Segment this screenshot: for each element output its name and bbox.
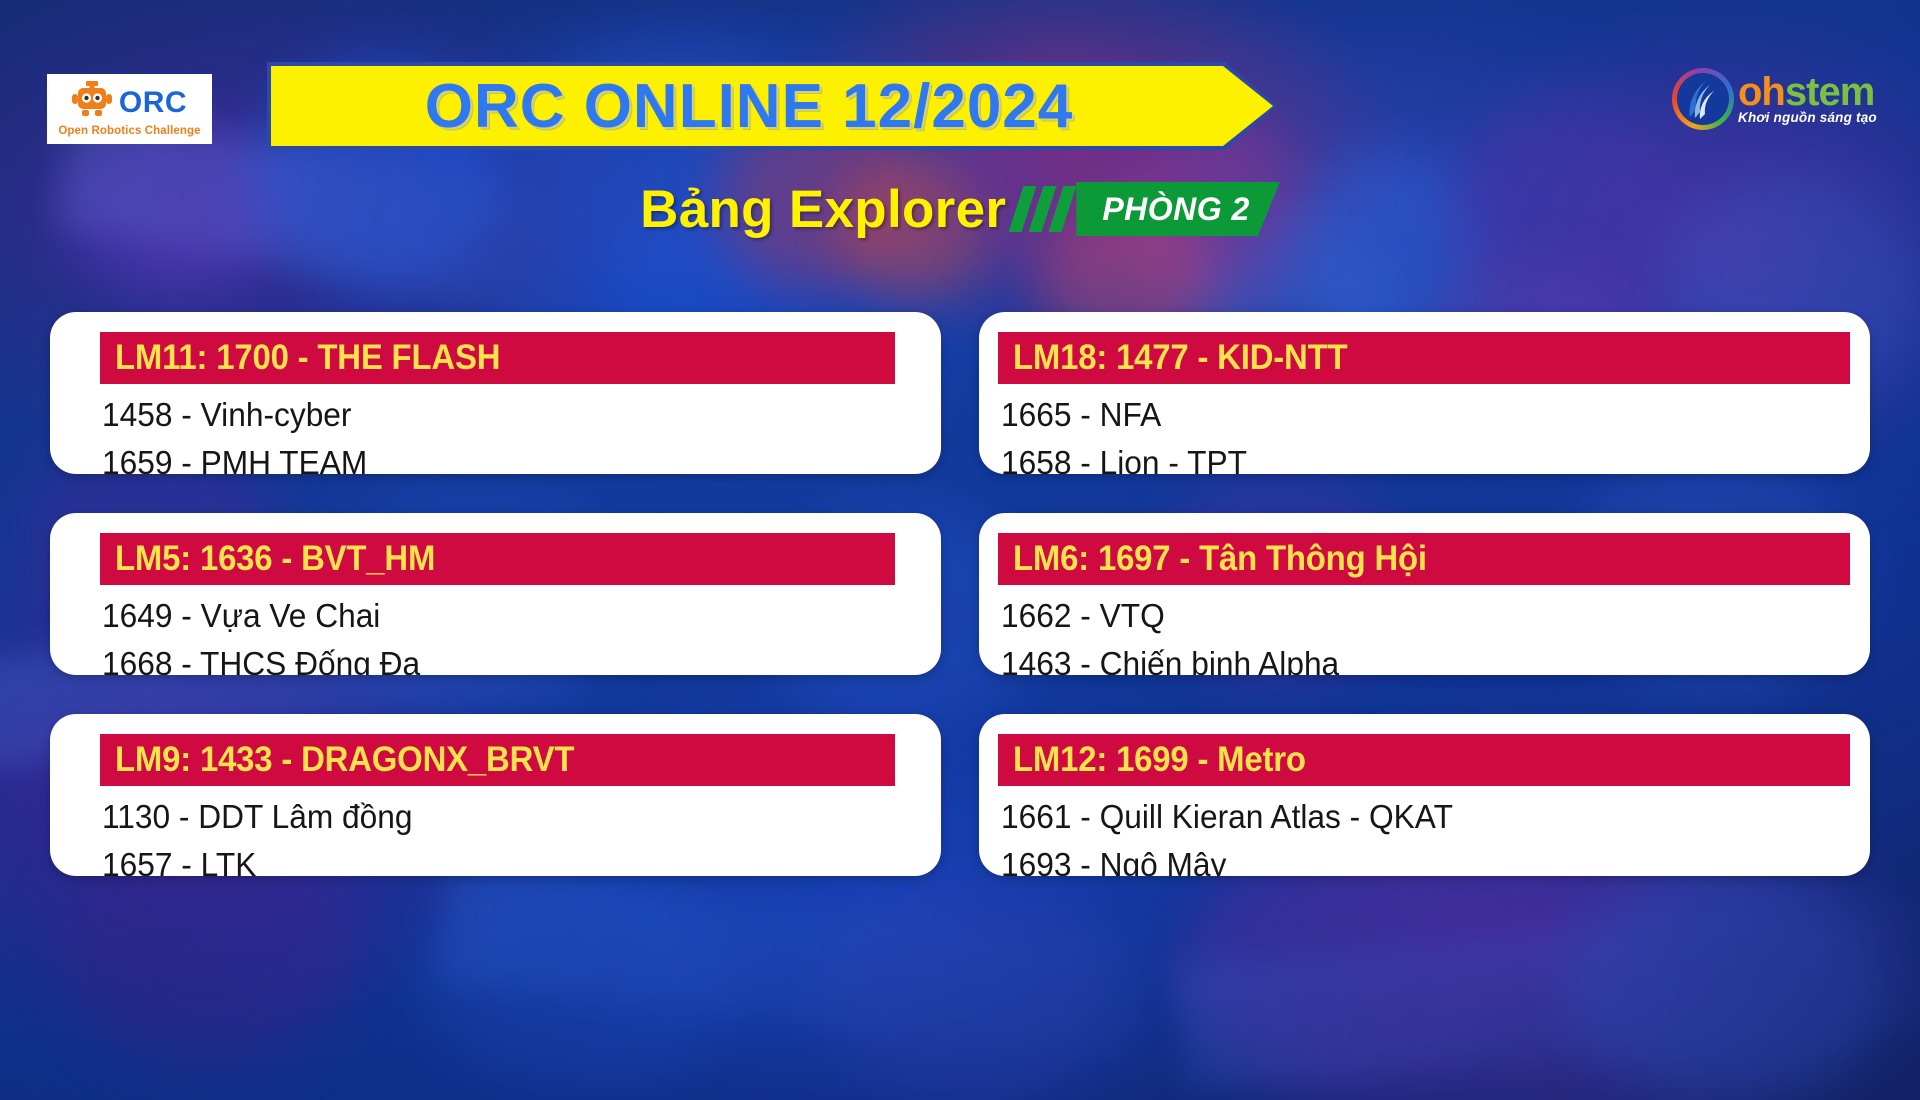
team-line: 1657 - LTK [102,841,907,876]
team-line: 1130 - DDT Lâm đồng [102,793,907,841]
group-card-header: LM9: 1433 - DRAGONX_BRVT [100,734,895,786]
team-line: 1693 - Ngô Mây [1001,841,1835,876]
team-line: 1661 - Quill Kieran Atlas - QKAT [1001,793,1835,841]
group-card-body: 1665 - NFA 1658 - Lion - TPT [979,384,1870,474]
ohstem-logo-stem: stem [1785,70,1874,114]
board-subtitle: Bảng Explorer [640,179,1006,240]
groups-grid: LM11: 1700 - THE FLASH 1458 - Vinh-cyber… [50,312,1870,876]
group-card-header: LM12: 1699 - Metro [998,734,1850,786]
ohstem-bird-icon [1672,68,1734,130]
team-line: 1658 - Lion - TPT [1001,439,1835,474]
group-title: LM18: 1477 - KID-NTT [1013,338,1347,378]
group-card-body: 1649 - Vựa Ve Chai 1668 - THCS Đống Đa [50,585,941,675]
team-line: 1668 - THCS Đống Đa [102,640,907,675]
group-card-body: 1662 - VTQ 1463 - Chiến binh Alpha [979,585,1870,675]
groups-row: LM9: 1433 - DRAGONX_BRVT 1130 - DDT Lâm … [50,714,1870,876]
group-card-header: LM6: 1697 - Tân Thông Hội [998,533,1850,585]
group-card-body: 1458 - Vinh-cyber 1659 - PMH TEAM [50,384,941,474]
group-card-header: LM5: 1636 - BVT_HM [100,533,895,585]
slide-canvas: ORC Open Robotics Challenge ORC ONLINE 1… [0,0,1920,1100]
header: ORC Open Robotics Challenge ORC ONLINE 1… [0,0,1920,300]
team-line: 1665 - NFA [1001,391,1835,439]
group-card[interactable]: LM12: 1699 - Metro 1661 - Quill Kieran A… [979,714,1870,876]
group-card[interactable]: LM11: 1700 - THE FLASH 1458 - Vinh-cyber… [50,312,941,474]
group-card[interactable]: LM18: 1477 - KID-NTT 1665 - NFA 1658 - L… [979,312,1870,474]
group-title: LM11: 1700 - THE FLASH [115,338,500,378]
robot-icon [72,81,112,124]
team-line: 1649 - Vựa Ve Chai [102,592,907,640]
group-title: LM5: 1636 - BVT_HM [115,539,435,579]
orc-logo-tagline: Open Robotics Challenge [58,125,200,137]
page-title: ORC ONLINE 12/2024 [267,62,1277,150]
ohstem-logo-oh: oh [1738,70,1785,114]
ohstem-logo: ohstem Khơi nguồn sáng tạo [1672,68,1877,130]
group-card-body: 1130 - DDT Lâm đồng 1657 - LTK [50,786,941,876]
team-line: 1463 - Chiến binh Alpha [1001,640,1835,675]
team-line: 1458 - Vinh-cyber [102,391,907,439]
group-card[interactable]: LM6: 1697 - Tân Thông Hội 1662 - VTQ 146… [979,513,1870,675]
subtitle-row: Bảng Explorer PHÒNG 2 [0,178,1920,240]
room-badge-label: PHÒNG 2 [1102,191,1250,228]
group-card[interactable]: LM5: 1636 - BVT_HM 1649 - Vựa Ve Chai 16… [50,513,941,675]
room-badge: PHÒNG 2 [1076,182,1280,236]
group-card-body: 1661 - Quill Kieran Atlas - QKAT 1693 - … [979,786,1870,876]
group-title: LM12: 1699 - Metro [1013,740,1306,780]
group-card-header: LM18: 1477 - KID-NTT [998,332,1850,384]
groups-row: LM11: 1700 - THE FLASH 1458 - Vinh-cyber… [50,312,1870,474]
team-line: 1659 - PMH TEAM [102,439,907,474]
ohstem-logo-slogan: Khơi nguồn sáng tạo [1738,112,1877,124]
orc-logo-word: ORC [119,86,187,120]
group-title: LM6: 1697 - Tân Thông Hội [1013,539,1427,579]
group-card-header: LM11: 1700 - THE FLASH [100,332,895,384]
groups-row: LM5: 1636 - BVT_HM 1649 - Vựa Ve Chai 16… [50,513,1870,675]
title-banner: ORC ONLINE 12/2024 [267,62,1277,150]
group-card[interactable]: LM9: 1433 - DRAGONX_BRVT 1130 - DDT Lâm … [50,714,941,876]
room-badge-wrap: PHÒNG 2 [1016,178,1280,240]
orc-logo: ORC Open Robotics Challenge [47,74,212,144]
team-line: 1662 - VTQ [1001,592,1835,640]
group-title: LM9: 1433 - DRAGONX_BRVT [115,740,574,780]
